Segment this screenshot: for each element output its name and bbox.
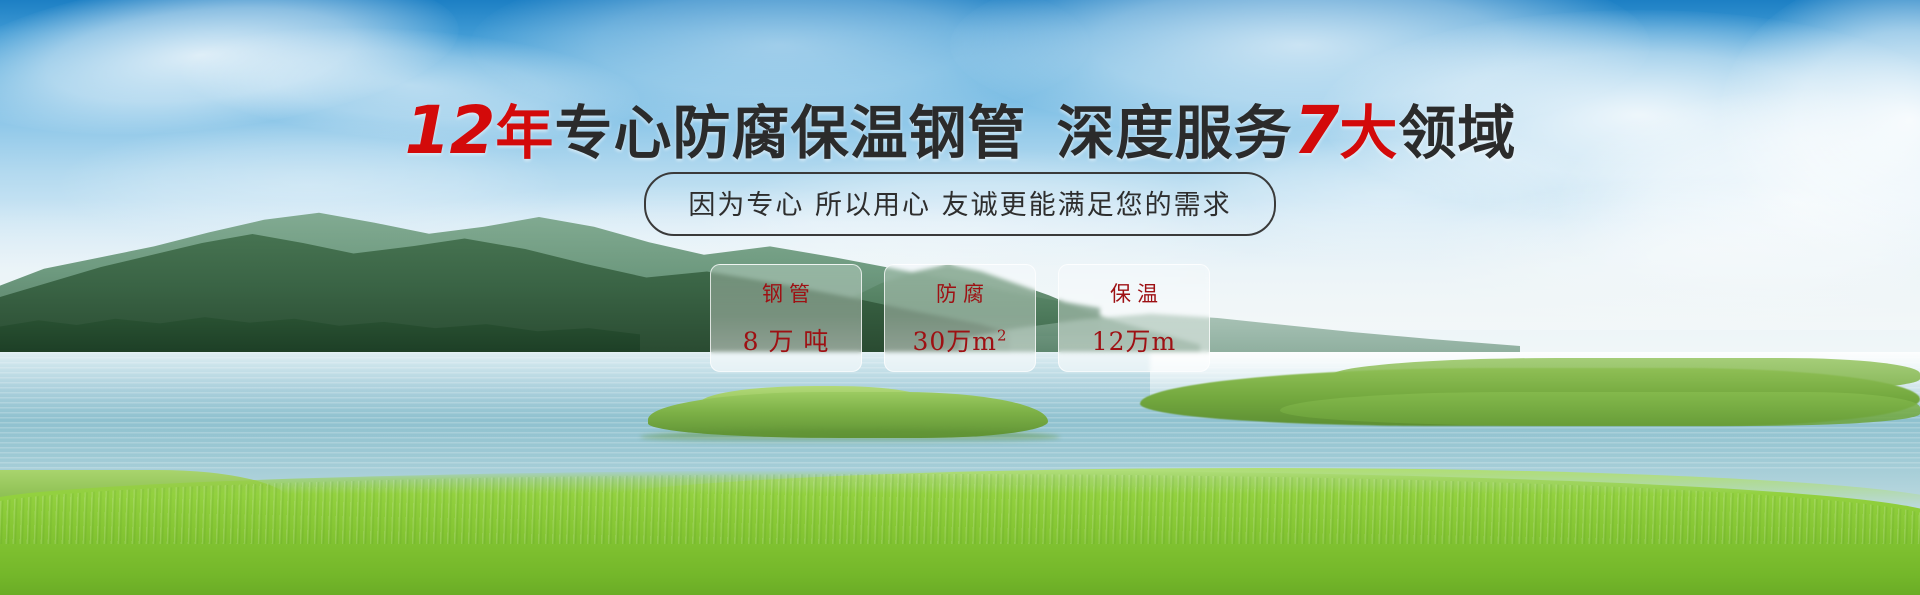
banner-content: 12年专心防腐保温钢管深度服务7大领域 因为专心 所以用心 友诚更能满足您的需求… <box>0 0 1920 595</box>
stat-card-list: 钢管 8 万 吨 防腐 30万m2 保温 12万m <box>0 264 1920 372</box>
subtitle-container: 因为专心 所以用心 友诚更能满足您的需求 <box>0 172 1920 236</box>
stat-card-value: 30万m2 <box>912 322 1007 358</box>
headline-main-text: 专心防腐保温钢管 <box>554 99 1026 167</box>
headline: 12年专心防腐保温钢管深度服务7大领域 <box>0 86 1920 170</box>
stat-card-anticorrosion: 防腐 30万m2 <box>884 264 1036 372</box>
stat-card-value: 12万m <box>1092 322 1177 358</box>
stat-card-label: 钢管 <box>756 278 816 308</box>
stat-card-steel-pipe: 钢管 8 万 吨 <box>710 264 862 372</box>
headline-second-text: 深度服务 <box>1056 99 1292 167</box>
hero-banner: 12年专心防腐保温钢管深度服务7大领域 因为专心 所以用心 友诚更能满足您的需求… <box>0 0 1920 595</box>
stat-card-insulation: 保温 12万m <box>1058 264 1210 372</box>
stat-value-superscript: 2 <box>997 327 1008 345</box>
headline-tail-text: 领域 <box>1398 99 1516 167</box>
stat-value-text: 12万m <box>1092 327 1177 356</box>
headline-years-unit: 年 <box>495 99 554 167</box>
stat-value-text: 30万m <box>912 327 997 356</box>
subtitle-pill: 因为专心 所以用心 友诚更能满足您的需求 <box>644 172 1275 236</box>
stat-card-label: 保温 <box>1104 278 1164 308</box>
stat-card-value: 8 万 吨 <box>743 322 830 358</box>
headline-years-number: 12 <box>404 92 496 169</box>
headline-fields-number: 7 <box>1292 92 1339 169</box>
headline-fields-unit: 大 <box>1339 99 1398 167</box>
stat-value-text: 8 万 吨 <box>743 327 830 356</box>
stat-card-label: 防腐 <box>930 278 990 308</box>
